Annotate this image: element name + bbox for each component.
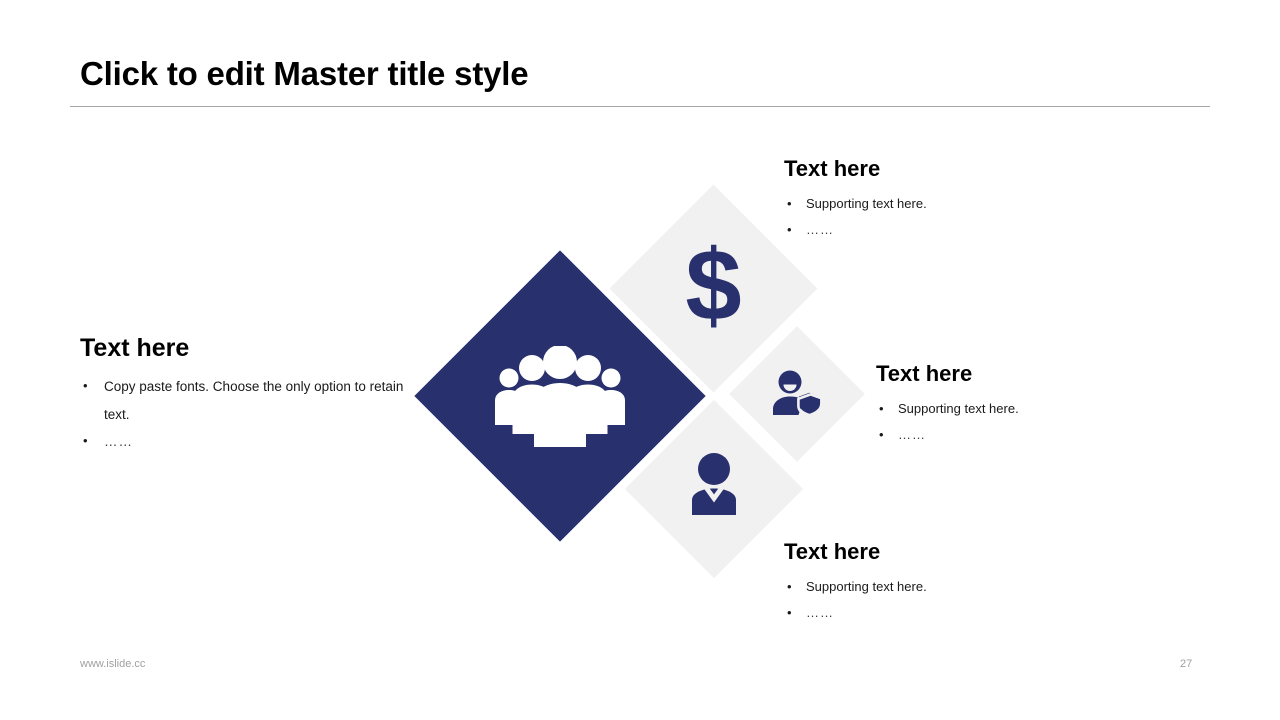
text-group-middle-right[interactable]: Text here • Supporting text here. • ……	[876, 361, 1256, 447]
text-group-left-bullets: • Copy paste fonts. Choose the only opti…	[80, 373, 410, 456]
footer-url: www.islide.cc	[80, 658, 145, 670]
bullet-marker: •	[787, 600, 792, 625]
slide-canvas: Click to edit Master title style $	[0, 0, 1280, 720]
bullet-text: Supporting text here.	[898, 401, 1019, 416]
text-group-left-heading: Text here	[80, 333, 410, 363]
bullet-text: ……	[806, 605, 834, 620]
list-item: • Supporting text here.	[784, 574, 1164, 599]
bullet-text: Supporting text here.	[806, 579, 927, 594]
bullet-marker: •	[787, 574, 792, 599]
text-group-bottom-right[interactable]: Text here • Supporting text here. • ……	[784, 539, 1164, 625]
list-item: • ……	[784, 600, 1164, 625]
list-item: • Supporting text here.	[784, 191, 1164, 216]
group-of-people-icon	[494, 346, 626, 450]
list-item: • ……	[80, 428, 410, 456]
text-group-middle-right-heading: Text here	[876, 361, 1256, 387]
text-group-top-right[interactable]: Text here • Supporting text here. • ……	[784, 156, 1164, 242]
bullet-text: Supporting text here.	[806, 196, 927, 211]
diamond-individual-content	[651, 426, 777, 552]
list-item: • ……	[876, 422, 1256, 447]
bullet-marker: •	[787, 191, 792, 216]
person-icon	[683, 452, 745, 520]
bullet-marker: •	[879, 396, 884, 421]
title-placeholder[interactable]: Click to edit Master title style	[80, 55, 1210, 93]
diamond-team[interactable]	[414, 250, 705, 541]
list-item: • ……	[784, 217, 1164, 242]
diamond-team-content	[457, 293, 663, 499]
list-item: • Supporting text here.	[876, 396, 1256, 421]
title-divider	[70, 106, 1210, 107]
user-shield-icon	[769, 369, 825, 419]
text-group-top-right-heading: Text here	[784, 156, 1164, 182]
bullet-text: ……	[104, 434, 133, 449]
bullet-text: ……	[898, 427, 926, 442]
bullet-text: Copy paste fonts. Choose the only option…	[104, 379, 403, 422]
dollar-sign-icon: $	[685, 236, 741, 337]
text-group-top-right-bullets: • Supporting text here. • ……	[784, 191, 1164, 242]
list-item: • Copy paste fonts. Choose the only opti…	[80, 373, 410, 428]
bullet-text: ……	[806, 222, 834, 237]
page-title[interactable]: Click to edit Master title style	[80, 55, 1210, 93]
slide-number: 27	[1180, 658, 1192, 670]
text-group-bottom-right-bullets: • Supporting text here. • ……	[784, 574, 1164, 625]
text-group-middle-right-bullets: • Supporting text here. • ……	[876, 396, 1256, 447]
bullet-marker: •	[787, 217, 792, 242]
bullet-marker: •	[879, 422, 884, 447]
text-group-left[interactable]: Text here • Copy paste fonts. Choose the…	[80, 333, 410, 456]
bullet-marker: •	[83, 373, 88, 398]
bullet-marker: •	[83, 428, 88, 453]
text-group-bottom-right-heading: Text here	[784, 539, 1164, 565]
